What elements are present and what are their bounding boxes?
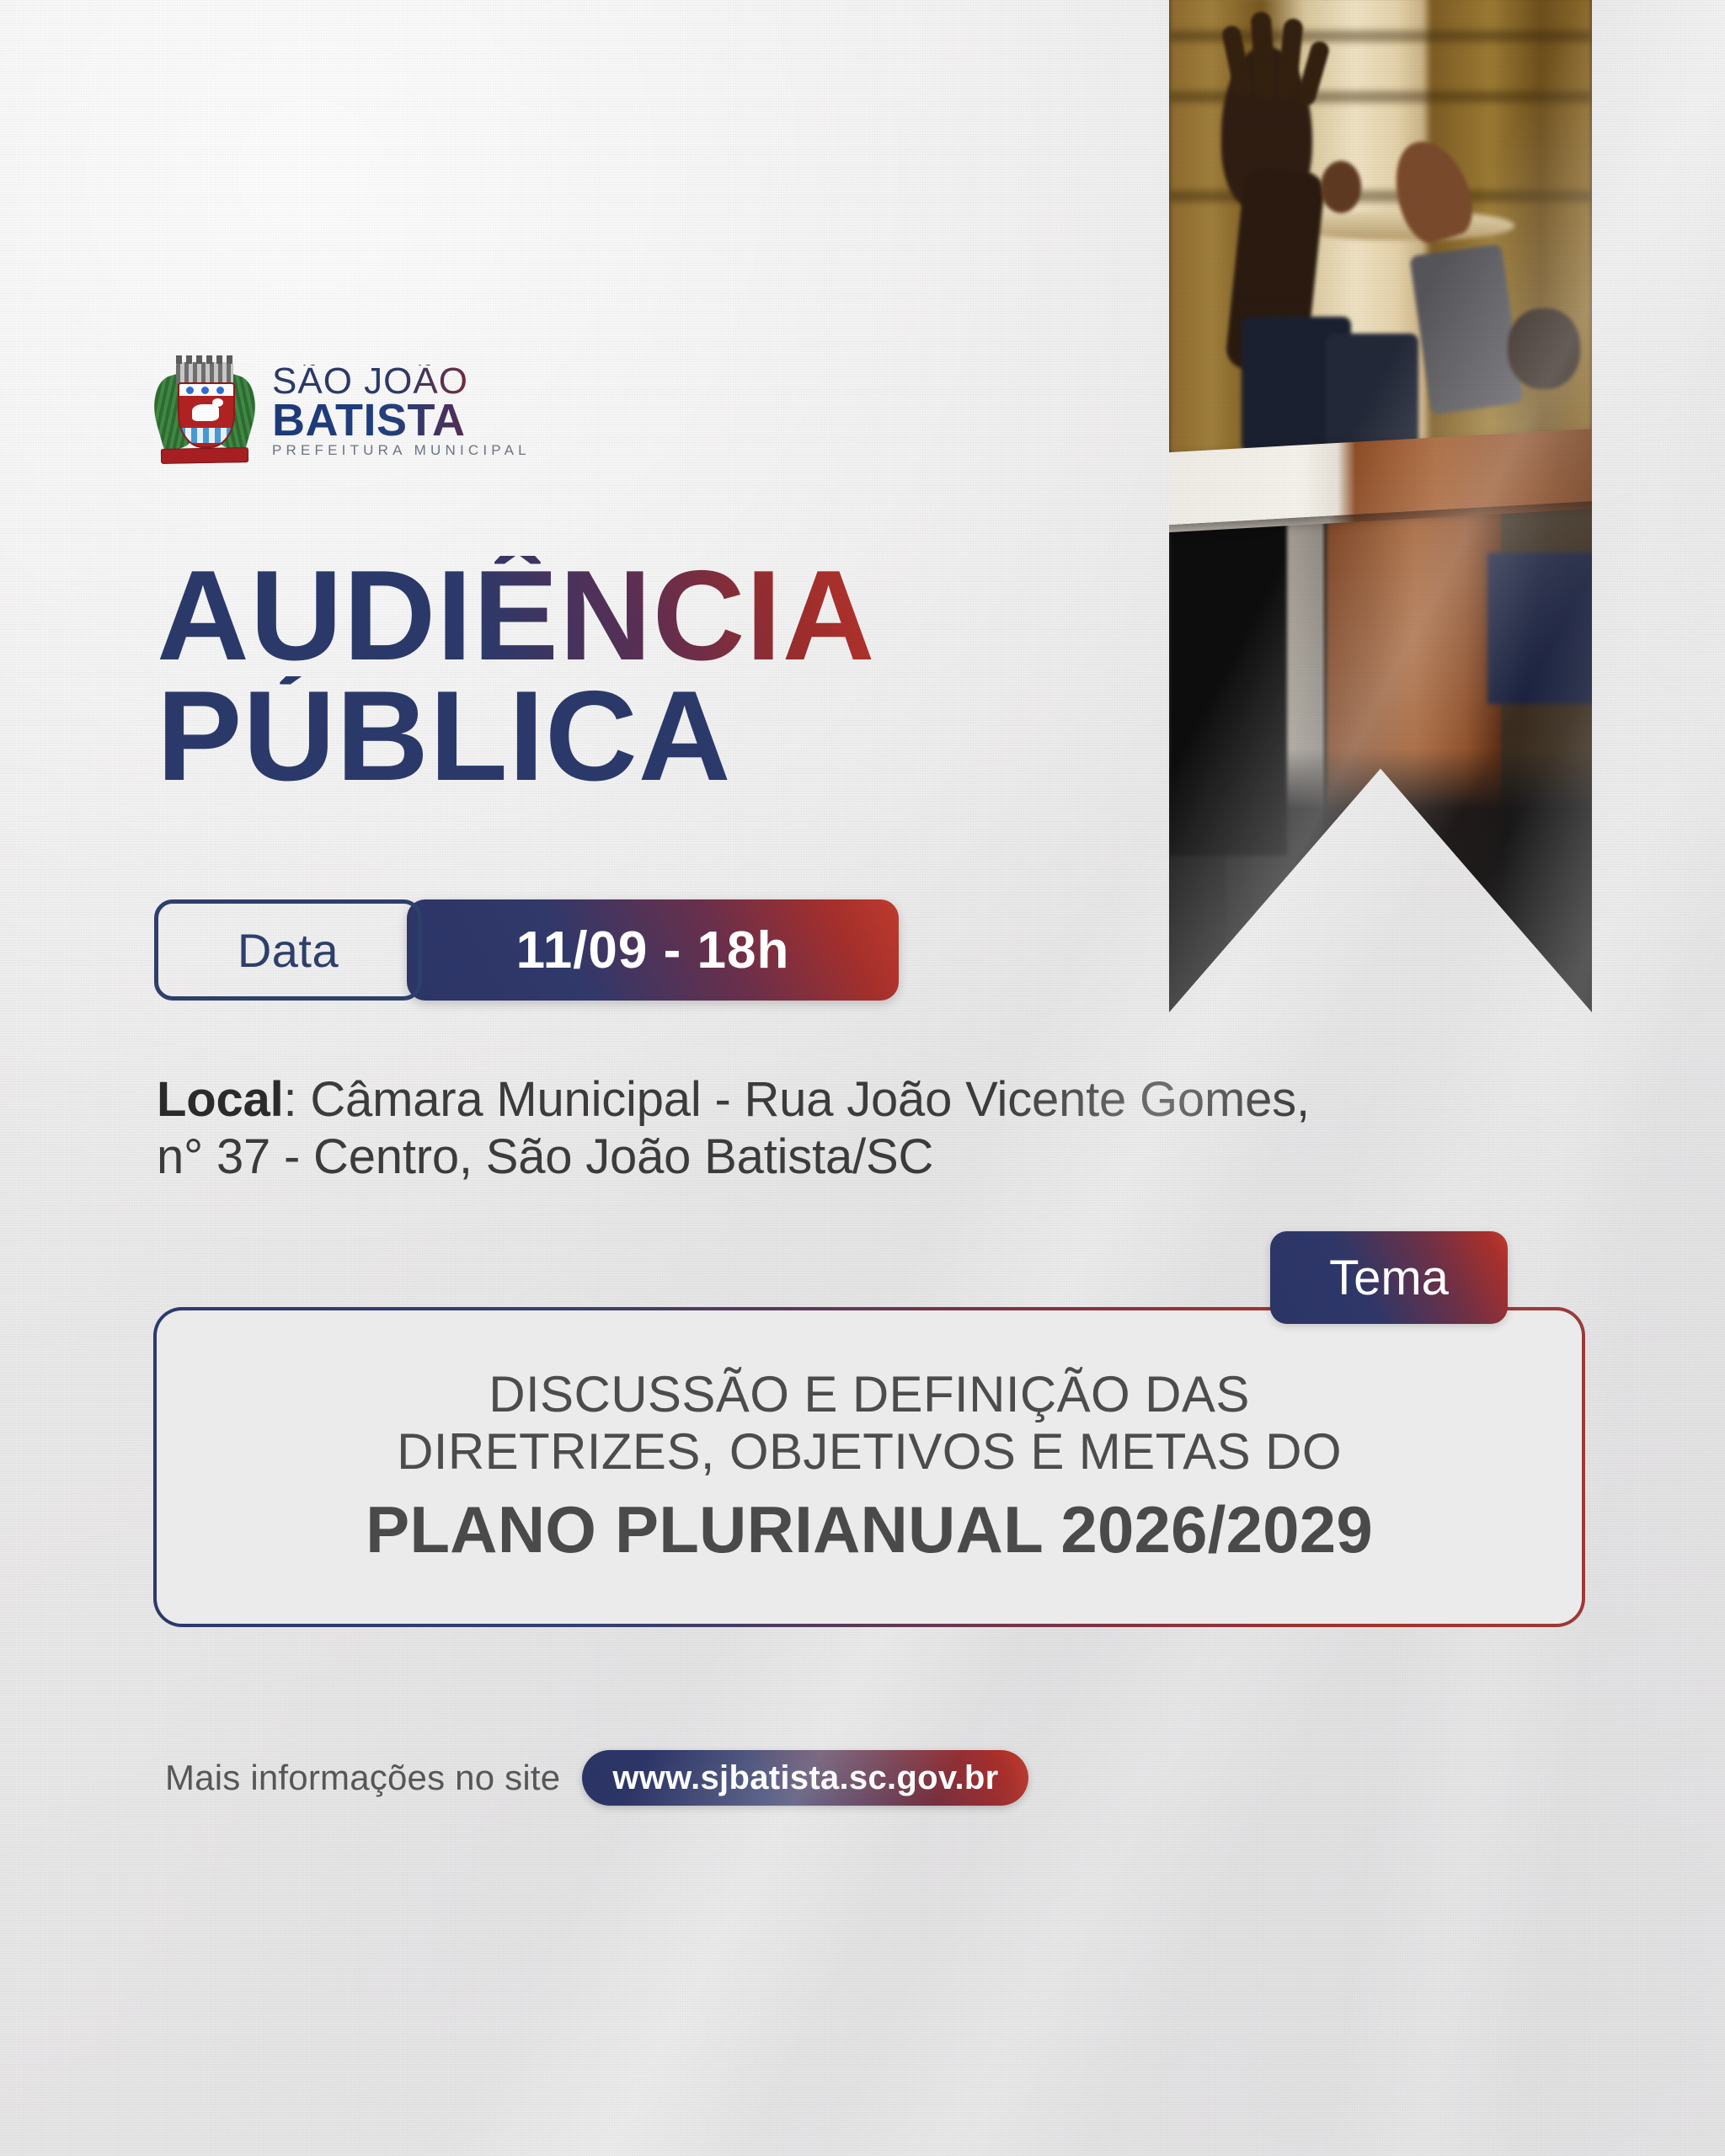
theme-line-2: DIRETRIZES, OBJETIVOS E METAS DO	[397, 1423, 1342, 1480]
title-line-1: AUDIÊNCIA	[157, 556, 875, 676]
location-separator: :	[284, 1072, 311, 1127]
website-pill[interactable]: www.sjbatista.sc.gov.br	[582, 1750, 1028, 1806]
page-title: AUDIÊNCIA PÚBLICA	[157, 556, 875, 797]
location-text: Local: Câmara Municipal - Rua João Vicen…	[157, 1071, 1353, 1187]
title-line-2: PÚBLICA	[157, 676, 875, 797]
theme-badge: Tema	[1270, 1231, 1508, 1324]
hearing-photo	[1169, 0, 1592, 1012]
footer: Mais informações no site www.sjbatista.s…	[165, 1750, 1028, 1806]
logo-line-3: PREFEITURA MUNICIPAL	[272, 444, 531, 456]
footer-text: Mais informações no site	[165, 1758, 560, 1798]
city-logo: SÃO JOÃO BATISTA PREFEITURA MUNICIPAL	[156, 360, 531, 462]
logo-line-1: SÃO JOÃO	[272, 365, 531, 398]
location-label: Local	[157, 1072, 284, 1127]
poster-canvas: SÃO JOÃO BATISTA PREFEITURA MUNICIPAL AU…	[0, 0, 1725, 2156]
theme-content: DISCUSSÃO E DEFINIÇÃO DAS DIRETRIZES, OB…	[153, 1307, 1585, 1627]
coat-of-arms-icon	[156, 360, 254, 462]
theme-line-1: DISCUSSÃO E DEFINIÇÃO DAS	[489, 1366, 1250, 1422]
location-line-1: Câmara Municipal - Rua João Vicente	[310, 1072, 1126, 1127]
date-value: 11/09 - 18h	[407, 899, 899, 1001]
date-row: Data 11/09 - 18h	[154, 899, 899, 1001]
theme-line-3: PLANO PLURIANUAL 2026/2029	[366, 1492, 1373, 1568]
logo-line-2: BATISTA	[272, 400, 531, 441]
date-label: Data	[154, 899, 422, 1001]
